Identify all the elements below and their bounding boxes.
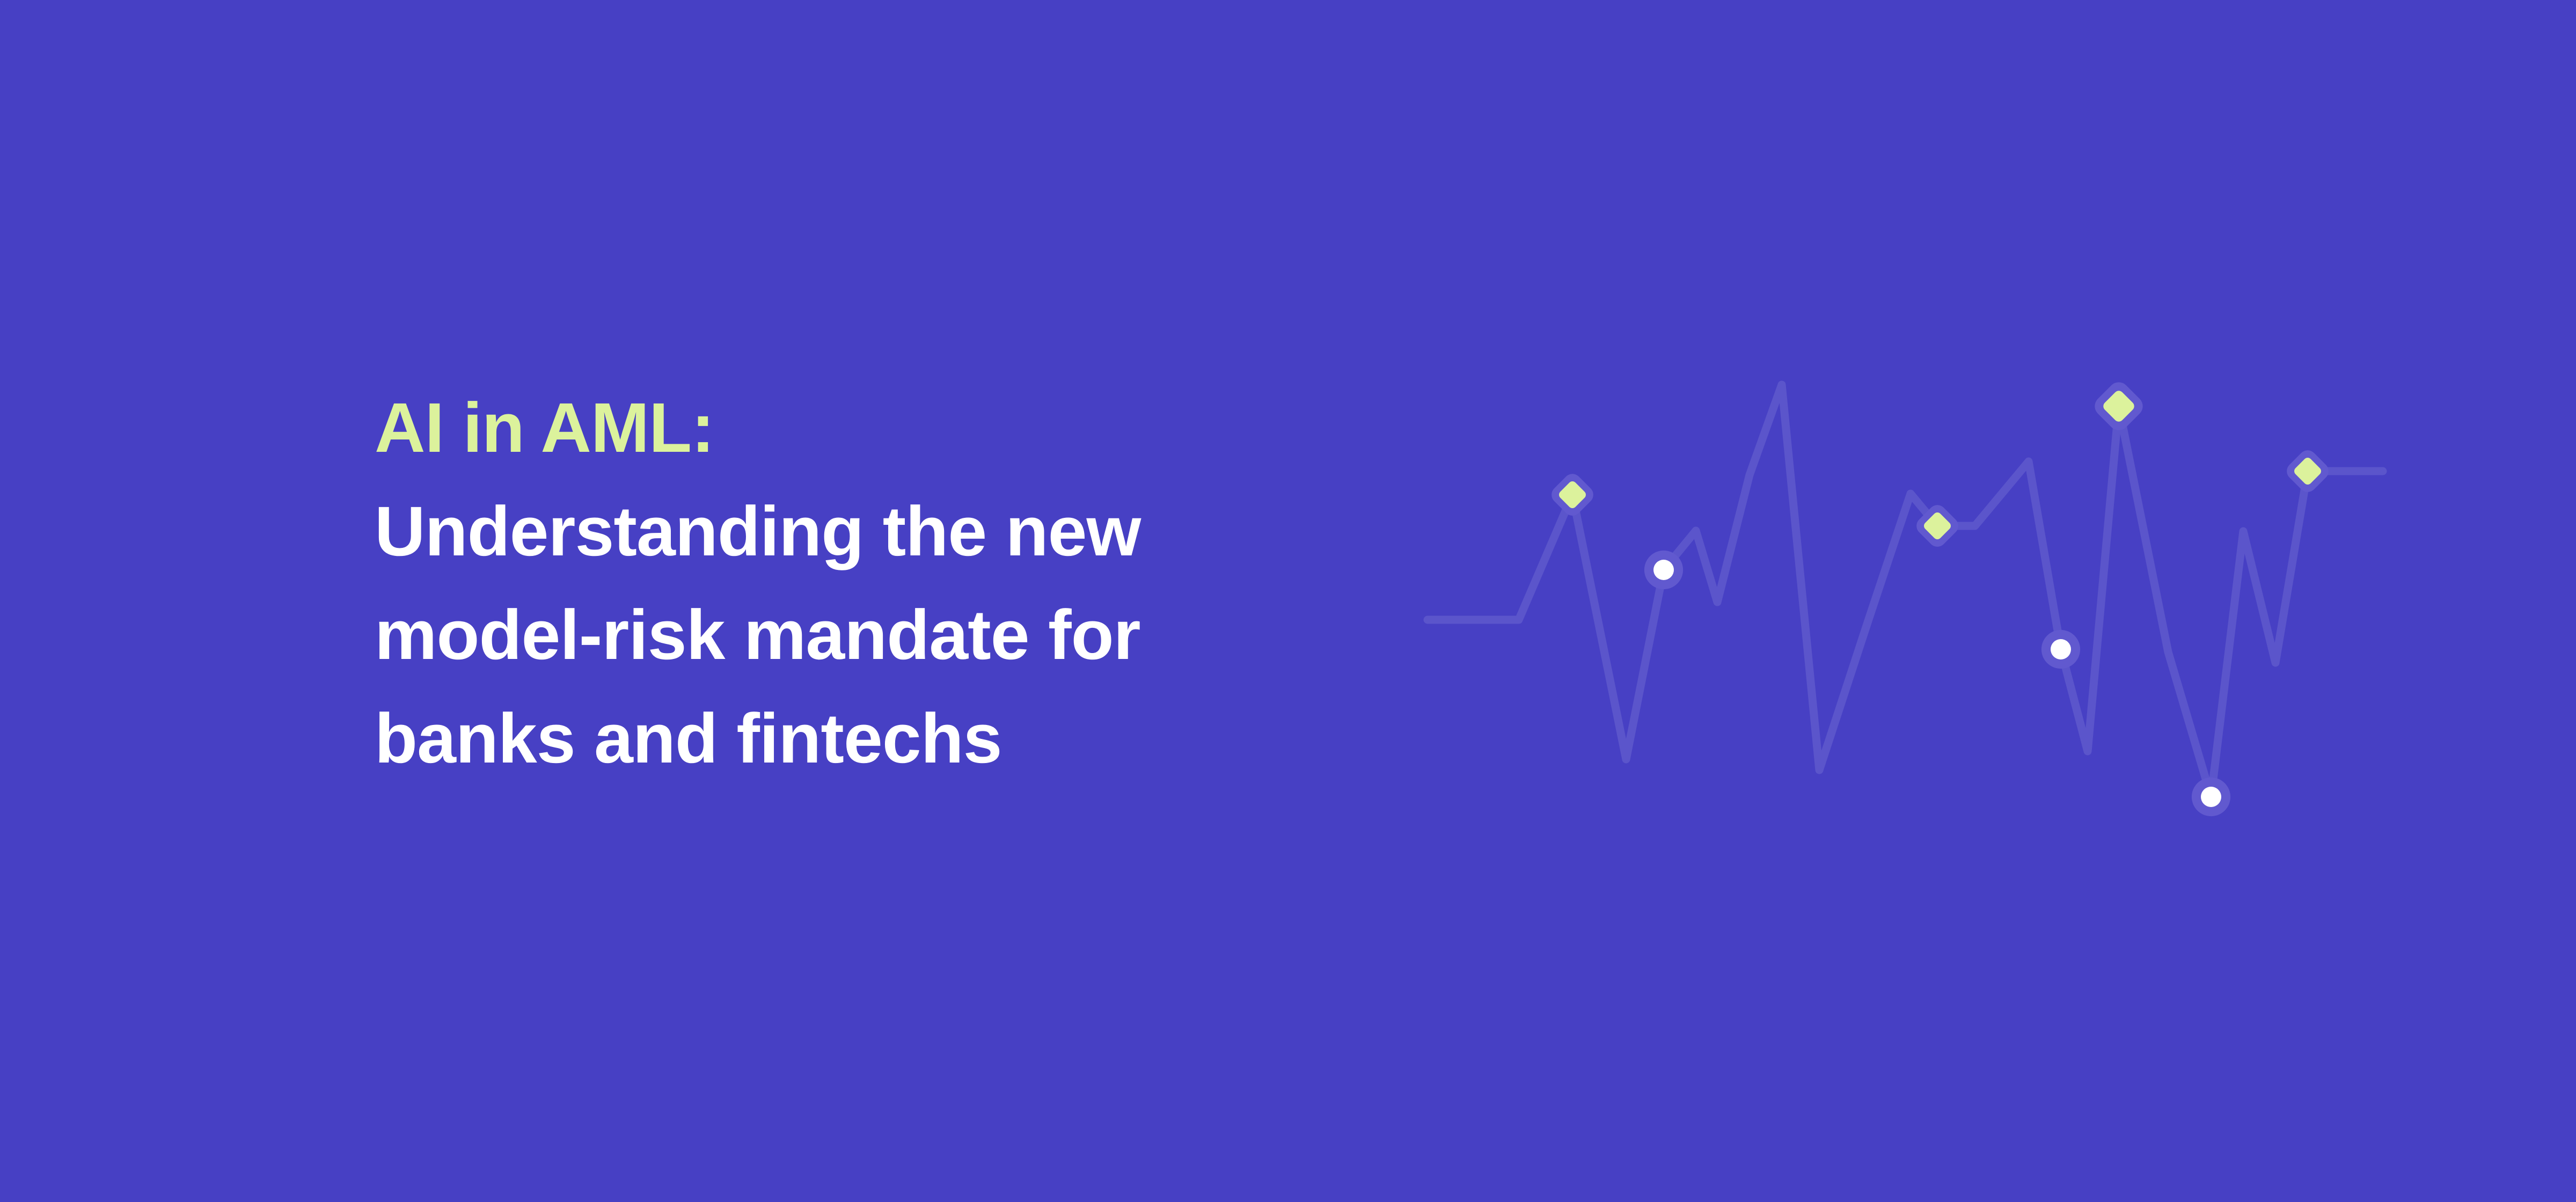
chart-line-group: [1428, 385, 2383, 797]
banner-canvas: AI in AML: Understanding the new model-r…: [0, 0, 2576, 1202]
chart-marker-diamond: [1548, 470, 1597, 519]
line-chart-graphic: [1395, 343, 2415, 859]
headline-line-3: model-risk mandate for: [375, 583, 1394, 686]
headline-block: AI in AML: Understanding the new model-r…: [375, 376, 1394, 790]
headline-line-1-accent: AI in AML:: [375, 376, 1394, 479]
marker-core: [1653, 560, 1674, 580]
chart-marker-circle: [1644, 551, 1683, 589]
chart-marker-circle: [2041, 630, 2080, 669]
chart-line-path: [1428, 385, 2383, 797]
marker-core: [2051, 639, 2071, 659]
headline-line-2: Understanding the new: [375, 479, 1394, 583]
chart-marker-diamond: [2283, 446, 2332, 496]
line-chart-svg: [1395, 343, 2415, 859]
chart-marker-circle: [2192, 778, 2230, 816]
marker-core: [2201, 787, 2221, 807]
chart-marker-diamond: [2090, 378, 2147, 434]
headline-line-4: banks and fintechs: [375, 686, 1394, 790]
